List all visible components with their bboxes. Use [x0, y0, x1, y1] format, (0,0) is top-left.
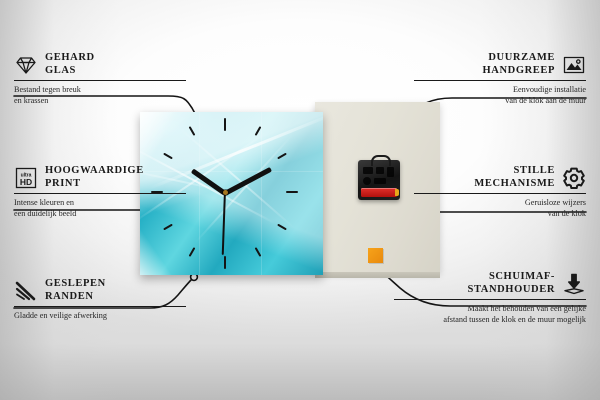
- clock-hub: [223, 190, 228, 195]
- gear-icon: [562, 166, 586, 190]
- feature-subtitle: Bestand tegen breuk en krassen: [14, 85, 186, 105]
- feature-duurzame-handgreep[interactable]: Duurzame handgreep Eenvoudige installati…: [414, 52, 586, 106]
- divider: [414, 80, 586, 81]
- divider: [14, 80, 186, 81]
- divider: [14, 193, 186, 194]
- divider: [414, 193, 586, 194]
- divider: [394, 299, 586, 300]
- feature-title: Schuimaf- standhouder: [468, 271, 556, 296]
- divider: [14, 306, 186, 307]
- picture-frame-icon: [562, 53, 586, 77]
- second-hand: [222, 193, 226, 255]
- feature-title: Duurzame handgreep: [483, 52, 556, 77]
- svg-text:HD: HD: [20, 177, 32, 187]
- feature-title: Gehard glas: [45, 52, 95, 77]
- clock-mechanism: [358, 160, 400, 200]
- diamond-icon: [14, 53, 38, 77]
- feature-title: Stille mechanisme: [474, 165, 555, 190]
- ultra-hd-icon: ultra HD: [14, 166, 38, 190]
- feature-subtitle: Maakt het behouden van een gelijke afsta…: [394, 304, 586, 324]
- hanger-loop: [371, 155, 391, 166]
- battery: [361, 188, 397, 197]
- down-arrow-pad-icon: [562, 272, 586, 296]
- feature-schuimaf-standhouder[interactable]: Schuimaf- standhouder Maakt het behouden…: [394, 271, 586, 325]
- feature-title: Geslepen randen: [45, 278, 106, 303]
- feature-geslepen-randen[interactable]: Geslepen randen Gladde en veilige afwerk…: [14, 278, 186, 322]
- feature-subtitle: Intense kleuren en een duidelijk beeld: [14, 198, 186, 218]
- feature-subtitle: Geruisloze wijzers van de klok: [414, 198, 586, 218]
- feature-hoogwaardige-print[interactable]: ultra HD Hoogwaardige print Intense kleu…: [14, 165, 186, 219]
- feature-gehard-glas[interactable]: Gehard glas Bestand tegen breuk en krass…: [14, 52, 186, 106]
- foam-pad: [368, 248, 383, 263]
- diagonal-lines-icon: [14, 279, 38, 303]
- feature-subtitle: Eenvoudige installatie van de klok aan d…: [414, 85, 586, 105]
- feature-title: Hoogwaardige print: [45, 165, 144, 190]
- infographic-canvas: Gehard glas Bestand tegen breuk en krass…: [0, 0, 600, 400]
- feature-subtitle: Gladde en veilige afwerking: [14, 311, 186, 321]
- feature-stille-mechanisme[interactable]: Stille mechanisme Geruisloze wijzers van…: [414, 165, 586, 219]
